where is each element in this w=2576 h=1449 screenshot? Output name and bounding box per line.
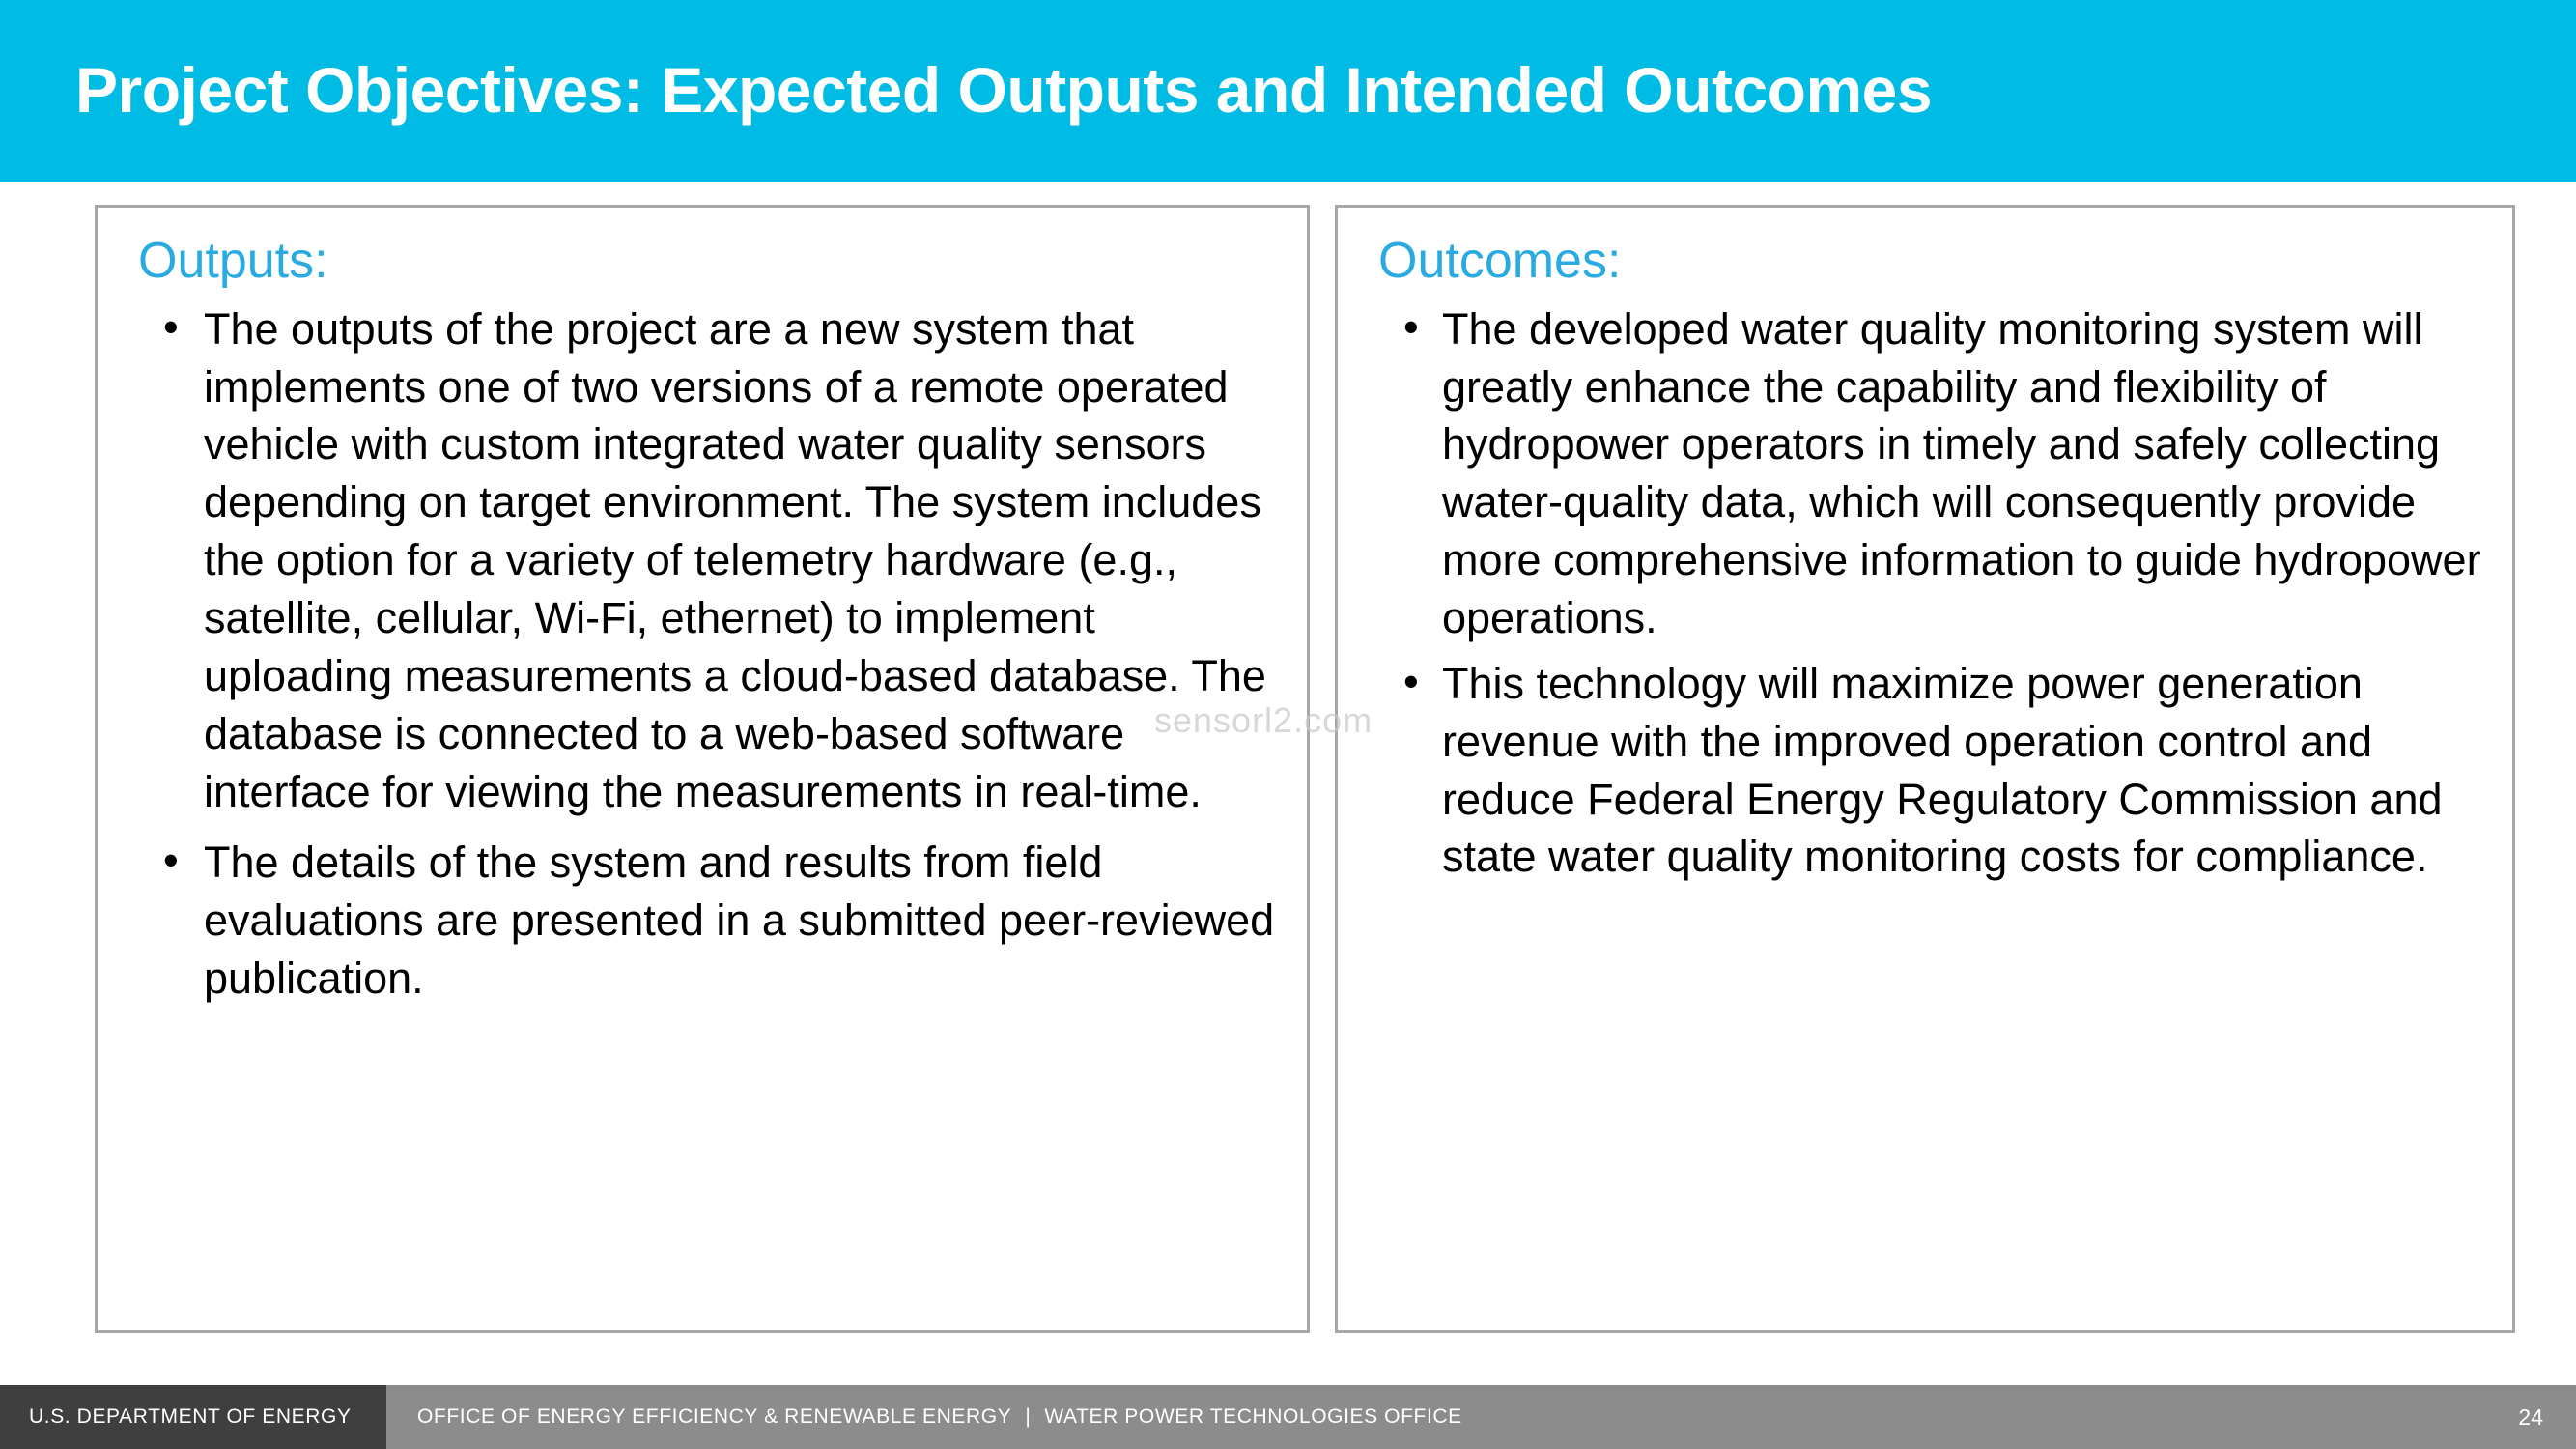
page-title: Project Objectives: Expected Outputs and…: [75, 57, 1932, 124]
outcomes-panel: Outcomes: • The developed water quality …: [1335, 205, 2515, 1333]
footer-office: OFFICE OF ENERGY EFFICIENCY & RENEWABLE …: [417, 1406, 1011, 1429]
bullet-icon: •: [163, 832, 179, 890]
bullet-icon: •: [163, 298, 179, 356]
footer-office-block: OFFICE OF ENERGY EFFICIENCY & RENEWABLE …: [386, 1385, 2460, 1449]
outputs-heading: Outputs:: [138, 233, 1278, 291]
footer-program: WATER POWER TECHNOLOGIES OFFICE: [1044, 1406, 1461, 1429]
slide: Project Objectives: Expected Outputs and…: [0, 0, 2576, 1449]
list-item-text: The details of the system and results fr…: [204, 838, 1274, 1003]
outcomes-heading: Outcomes:: [1378, 233, 2483, 291]
bullet-icon: •: [1403, 298, 1419, 356]
list-item-text: This technology will maximize power gene…: [1442, 659, 2443, 882]
footer-separator: |: [1011, 1406, 1044, 1429]
content-columns: Outputs: • The outputs of the project ar…: [0, 205, 2576, 1333]
slide-title-bar: Project Objectives: Expected Outputs and…: [0, 0, 2576, 182]
list-item: • This technology will maximize power ge…: [1359, 655, 2483, 886]
list-item-text: The outputs of the project are a new sys…: [204, 304, 1266, 816]
footer-page-number: 24: [2460, 1385, 2576, 1449]
list-item-text: The developed water quality monitoring s…: [1442, 304, 2481, 642]
bullet-icon: •: [1403, 653, 1419, 711]
list-item: • The details of the system and results …: [119, 834, 1278, 1008]
outcomes-bullet-list: • The developed water quality monitoring…: [1359, 300, 2483, 886]
slide-footer: U.S. DEPARTMENT OF ENERGY OFFICE OF ENER…: [0, 1385, 2576, 1449]
outputs-panel: Outputs: • The outputs of the project ar…: [95, 205, 1310, 1333]
list-item: • The developed water quality monitoring…: [1359, 300, 2483, 647]
list-item: • The outputs of the project are a new s…: [119, 300, 1278, 821]
footer-department: U.S. DEPARTMENT OF ENERGY: [0, 1385, 386, 1449]
outputs-bullet-list: • The outputs of the project are a new s…: [119, 300, 1278, 1008]
